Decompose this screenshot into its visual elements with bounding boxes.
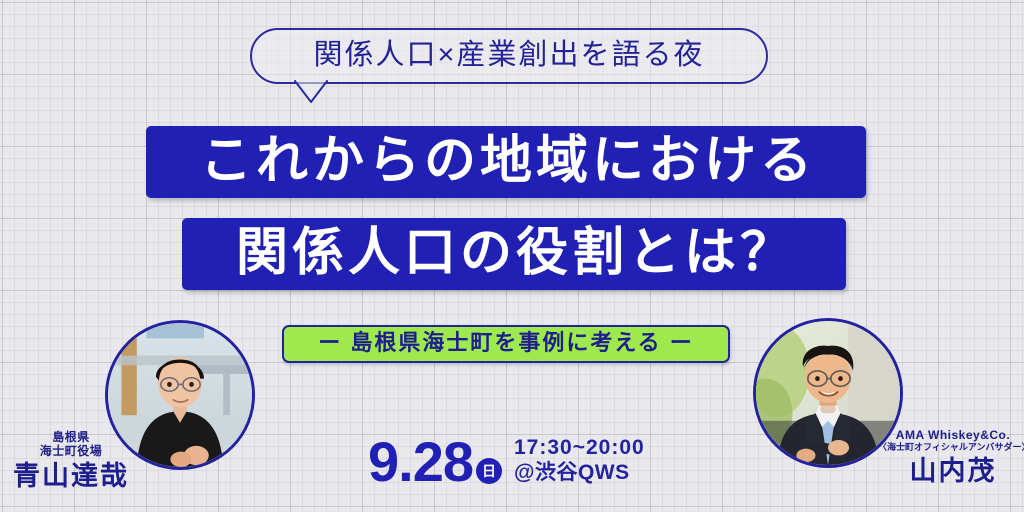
subtitle-pill: ー 島根県海士町を事例に考える ー: [282, 325, 730, 363]
event-time-venue: 17:30~20:00 @渋谷QWS: [514, 436, 645, 486]
tagline-text: 関係人口×産業創出を語る夜: [314, 41, 705, 72]
speaker-info-right: AMA Whiskey&Co. 〈海士町オフィシャルアンバサダー〉 山内茂: [878, 428, 1024, 488]
title-line-2-text: 関係人口の役割とは？: [232, 227, 796, 282]
weekday-badge: 日: [476, 458, 502, 484]
event-date: 9.28: [368, 436, 473, 488]
event-venue: @渋谷QWS: [514, 461, 645, 486]
speaker-right-affiliation-line2: 〈海士町オフィシャルアンバサダー〉: [878, 442, 1024, 453]
event-time: 17:30~20:00: [514, 436, 645, 461]
tagline-bubble: 関係人口×産業創出を語る夜: [250, 28, 768, 84]
tagline-bubble-body: 関係人口×産業創出を語る夜: [250, 28, 768, 84]
speaker-left-affiliation-line1: 島根県: [0, 430, 146, 444]
subtitle-text: ー 島根県海士町を事例に考える ー: [318, 332, 694, 356]
event-date-block: 9.28 日 17:30~20:00 @渋谷QWS: [368, 436, 645, 488]
event-banner: 関係人口×産業創出を語る夜 これからの地域における 関係人口の役割とは？ ー 島…: [0, 0, 1024, 512]
title-line-1: これからの地域における: [146, 126, 866, 198]
speaker-info-left: 島根県 海士町役場 青山達哉: [0, 430, 146, 493]
speech-bubble-tail-icon: [294, 80, 328, 106]
speaker-left-name: 青山達哉: [0, 461, 146, 493]
speaker-left-affiliation-line2: 海士町役場: [0, 444, 146, 458]
title-line-2: 関係人口の役割とは？: [182, 218, 846, 290]
speaker-right-affiliation-line1: AMA Whiskey&Co.: [878, 428, 1024, 442]
speaker-right-name: 山内茂: [878, 456, 1024, 488]
title-line-1-text: これからの地域における: [196, 135, 816, 190]
